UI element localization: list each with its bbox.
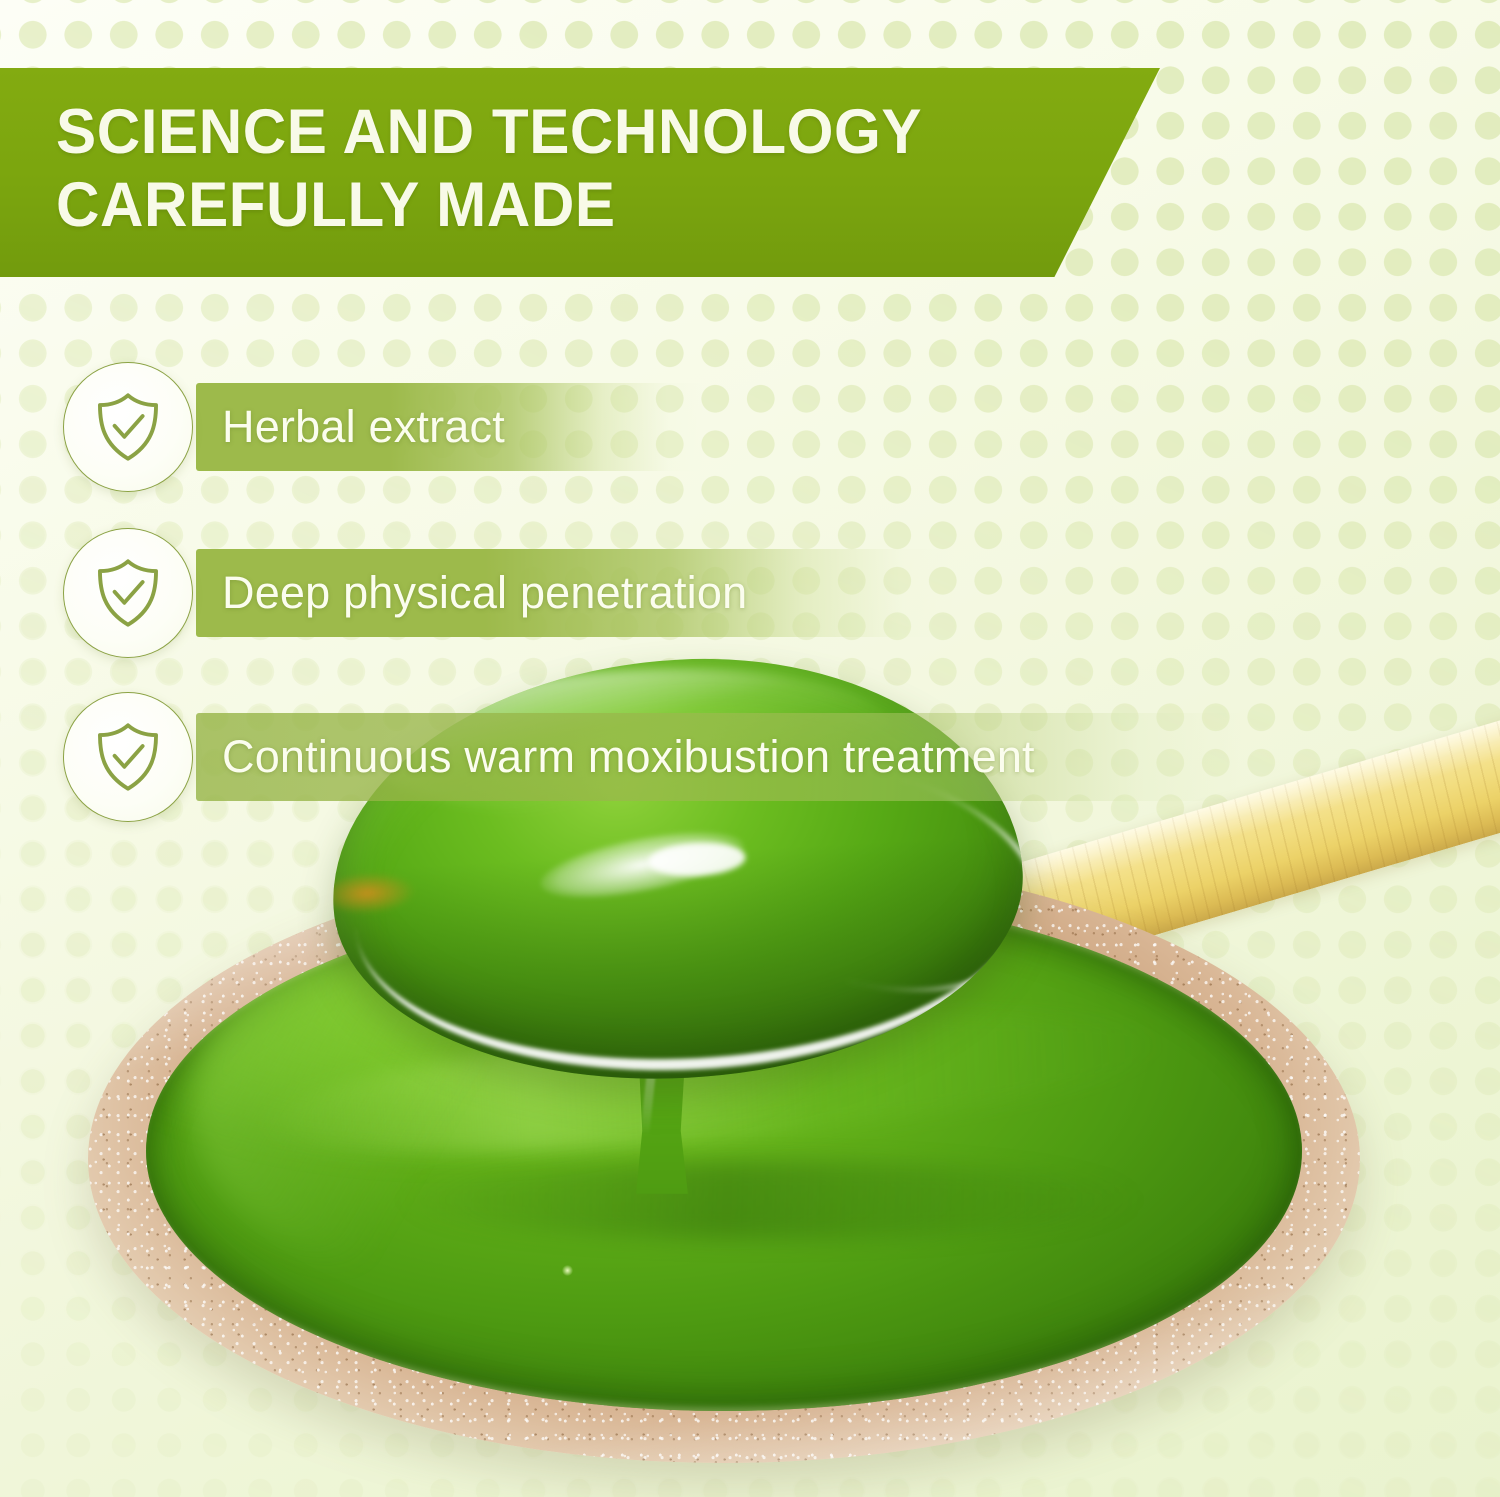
feature-label: Continuous warm moxibustion treatment <box>222 691 1035 823</box>
shield-check-icon <box>63 528 193 658</box>
shield-check-icon <box>63 362 193 492</box>
shield-check-icon <box>63 692 193 822</box>
product-feature-graphic: SCIENCE AND TECHNOLOGY CAREFULLY MADE He… <box>0 0 1500 1497</box>
page-title: SCIENCE AND TECHNOLOGY CAREFULLY MADE <box>56 96 1068 243</box>
feature-label: Herbal extract <box>222 361 505 493</box>
feature-label: Deep physical penetration <box>222 527 747 659</box>
